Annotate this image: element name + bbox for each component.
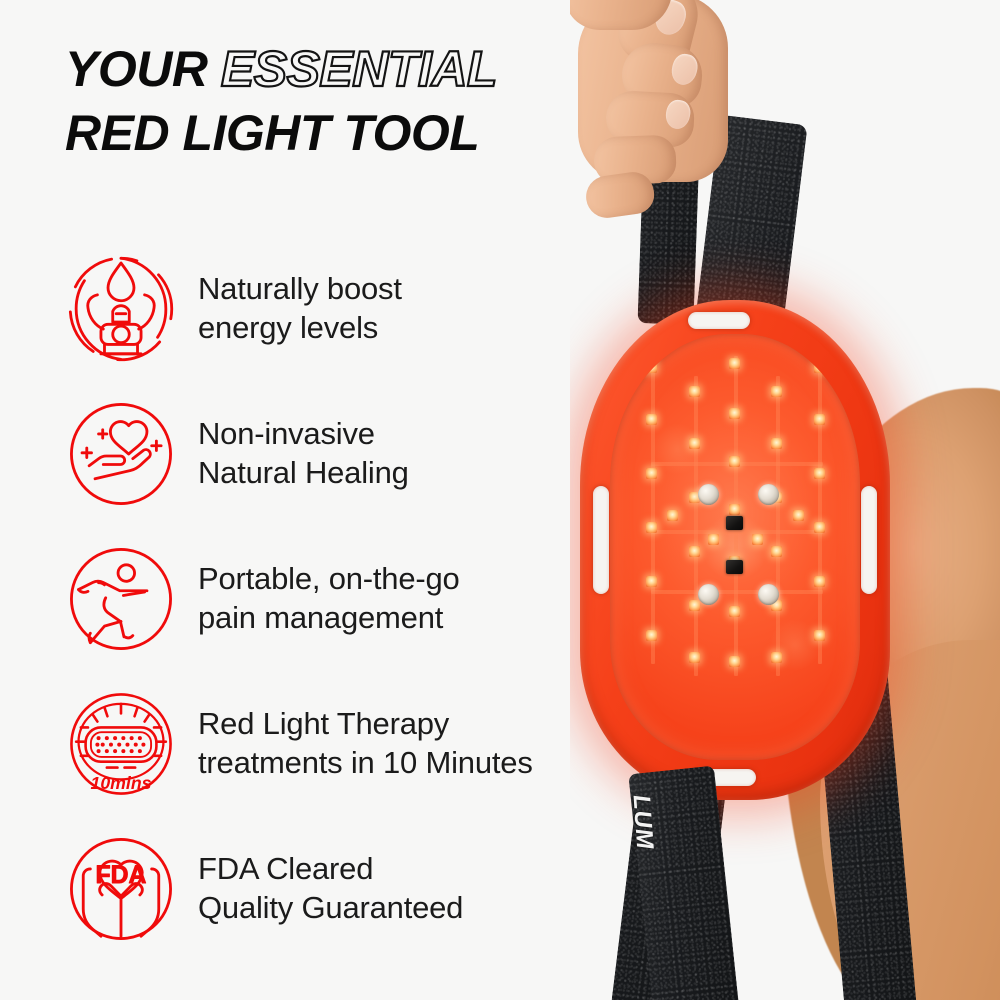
running-person-icon	[62, 540, 180, 658]
device-led-surface	[610, 334, 860, 760]
model-hand	[570, 0, 900, 300]
feature-list: Naturally boost energy levels Non-invasi…	[62, 236, 622, 961]
feature-text-fda: FDA Cleared Quality Guaranteed	[198, 850, 463, 928]
led-chip	[729, 456, 740, 467]
feature-line-1: Non-invasive	[198, 416, 375, 451]
led-chip	[689, 600, 700, 611]
led-chip	[814, 362, 825, 373]
led-chip	[814, 522, 825, 533]
led-chip	[646, 522, 657, 533]
feature-text-timer: Red Light Therapy treatments in 10 Minut…	[198, 705, 533, 783]
led-trace	[694, 376, 698, 676]
led-chip	[729, 504, 740, 515]
feature-line-2: treatments in 10 Minutes	[198, 745, 533, 780]
led-chip	[689, 546, 700, 557]
led-chip	[729, 408, 740, 419]
fda-icon-label: FDA	[96, 862, 147, 889]
led-chip	[646, 362, 657, 373]
device-ic-chip	[726, 560, 743, 574]
led-chip	[814, 630, 825, 641]
led-chip	[793, 510, 804, 521]
device-slot-right	[861, 486, 877, 594]
feature-line-1: Naturally boost	[198, 271, 402, 306]
hand-finger-pinky	[583, 169, 656, 220]
led-chip	[708, 534, 719, 545]
led-chip	[689, 438, 700, 449]
led-chip	[646, 630, 657, 641]
led-trace	[651, 530, 823, 534]
device-screw	[758, 484, 779, 505]
led-chip	[646, 468, 657, 479]
feature-line-1: FDA Cleared	[198, 851, 373, 886]
led-chip	[771, 438, 782, 449]
feature-line-1: Portable, on-the-go	[198, 561, 460, 596]
feature-line-2: energy levels	[198, 310, 378, 345]
led-trace	[651, 364, 655, 664]
device-slot-top	[688, 312, 750, 329]
device-screw	[758, 584, 779, 605]
led-chip	[646, 576, 657, 587]
led-chip	[771, 386, 782, 397]
led-trace	[651, 590, 823, 594]
device-screw	[698, 484, 719, 505]
led-chip	[689, 386, 700, 397]
feature-text-portable: Portable, on-the-go pain management	[198, 560, 460, 638]
feature-text-energy: Naturally boost energy levels	[198, 270, 402, 348]
feature-text-healing: Non-invasive Natural Healing	[198, 415, 409, 493]
hand-heart-sparkle-icon	[62, 395, 180, 513]
brand-logo-tag: LUM	[626, 794, 658, 851]
feature-item-energy: Naturally boost energy levels	[62, 236, 622, 381]
led-panel-timer-icon: 10mins	[62, 685, 180, 803]
feature-line-2: pain management	[198, 600, 443, 635]
device-slot-left	[593, 486, 609, 594]
led-chip	[771, 546, 782, 557]
device-screw	[698, 584, 719, 605]
led-chip	[771, 652, 782, 663]
led-chip	[752, 534, 763, 545]
led-chip	[814, 576, 825, 587]
product-photo: LUM	[570, 0, 1000, 1000]
feature-item-timer: 10mins Red Light Therapy treatments in 1…	[62, 671, 622, 816]
feature-line-2: Natural Healing	[198, 455, 409, 490]
feature-line-2: Quality Guaranteed	[198, 890, 463, 925]
led-chip	[814, 414, 825, 425]
led-trace	[776, 376, 780, 676]
led-chip	[729, 606, 740, 617]
led-chip	[814, 468, 825, 479]
red-light-device	[580, 300, 890, 800]
led-chip	[667, 510, 678, 521]
led-chip	[729, 656, 740, 667]
led-trace	[818, 364, 822, 664]
led-chip	[689, 652, 700, 663]
headline-word-essential: ESSENTIAL	[221, 41, 497, 97]
timer-icon-label: 10mins	[91, 772, 152, 792]
feature-item-healing: Non-invasive Natural Healing	[62, 381, 622, 526]
feature-item-fda: FDA FDA Cleared Quality Guaranteed	[62, 816, 622, 961]
feature-item-portable: Portable, on-the-go pain management	[62, 526, 622, 671]
feature-line-1: Red Light Therapy	[198, 706, 449, 741]
energy-person-droplet-icon	[62, 250, 180, 368]
led-chip	[646, 414, 657, 425]
device-ic-chip	[726, 516, 743, 530]
fda-hands-heart-icon: FDA	[62, 830, 180, 948]
led-chip	[729, 358, 740, 369]
headline-word-your: YOUR	[65, 41, 207, 97]
